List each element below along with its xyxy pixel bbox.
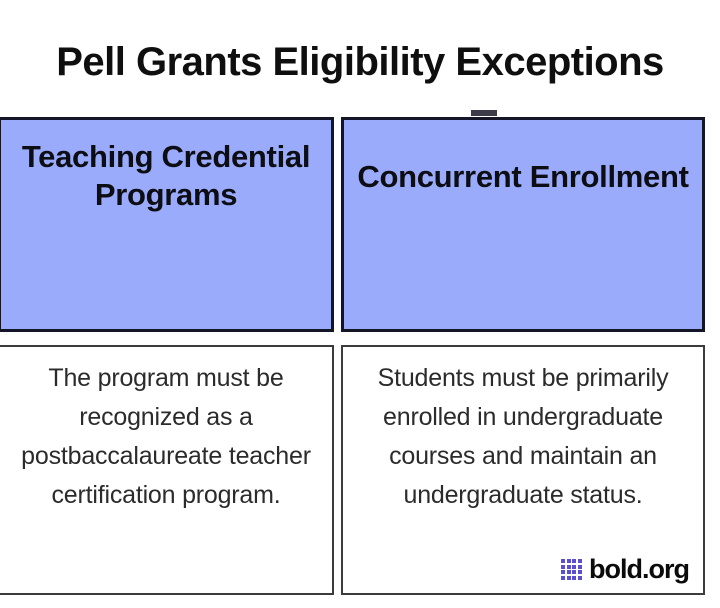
body-card-text: Students must be primarily enrolled in u… [353, 359, 693, 515]
body-card-concurrent-enrollment: Students must be primarily enrolled in u… [341, 345, 705, 595]
infographic-root: Pell Grants Eligibility Exceptions Teach… [0, 0, 720, 608]
header-card-concurrent-enrollment: Concurrent Enrollment [341, 117, 705, 332]
header-card-title: Concurrent Enrollment [357, 158, 688, 196]
comparison-grid: Teaching Credential Programs The program… [0, 115, 720, 597]
logo-wordmark: bold.org [589, 556, 689, 583]
body-card-text: The program must be recognized as a post… [10, 359, 322, 515]
column-teaching-credential-programs: Teaching Credential Programs The program… [0, 115, 338, 597]
column-concurrent-enrollment: Concurrent Enrollment Students must be p… [341, 115, 681, 597]
header-card-teaching-credential-programs: Teaching Credential Programs [0, 117, 334, 332]
header-card-tab-notch [471, 110, 497, 116]
bold-org-logo: bold.org [561, 556, 689, 583]
body-card-teaching-credential-programs: The program must be recognized as a post… [0, 345, 334, 595]
page-title: Pell Grants Eligibility Exceptions [0, 38, 720, 86]
header-card-title: Teaching Credential Programs [1, 138, 331, 214]
grid-dots-icon [561, 559, 583, 580]
